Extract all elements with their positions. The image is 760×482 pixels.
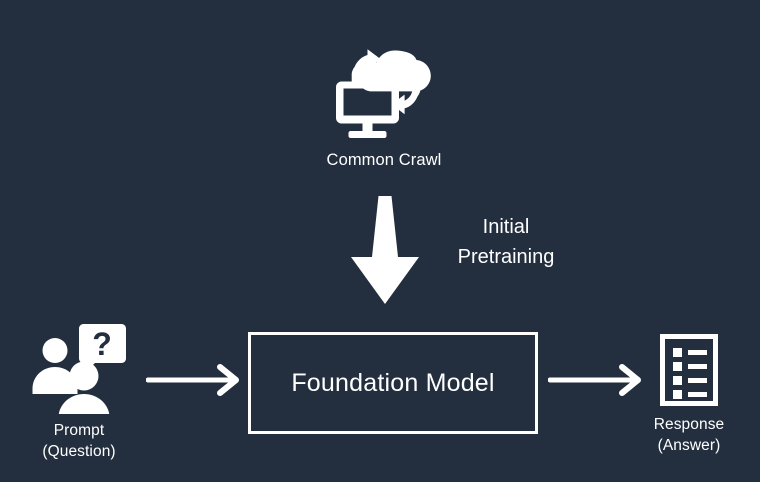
document-list-icon	[660, 334, 718, 406]
node-label-response: Response (Answer)	[654, 414, 725, 456]
foundation-model-label: Foundation Model	[291, 369, 494, 398]
node-label-prompt: Prompt (Question)	[42, 420, 115, 462]
right-arrow-icon-prompt-to-model	[146, 362, 242, 398]
diagram-canvas: Common Crawl Initial Pretraining ? Promp…	[0, 0, 760, 482]
users-question-bubble-icon: ?	[31, 322, 127, 414]
node-label-common-crawl: Common Crawl	[327, 150, 442, 171]
node-response: Response (Answer)	[622, 334, 756, 456]
node-prompt: ? Prompt (Question)	[12, 322, 146, 462]
connector-label-initial-pretraining: Initial Pretraining	[416, 212, 596, 272]
cloud-sync-monitor-icon	[328, 36, 440, 140]
node-common-crawl: Common Crawl	[296, 36, 472, 171]
svg-text:?: ?	[92, 326, 112, 362]
down-arrow-icon	[348, 196, 422, 304]
foundation-model-box: Foundation Model	[248, 332, 538, 434]
